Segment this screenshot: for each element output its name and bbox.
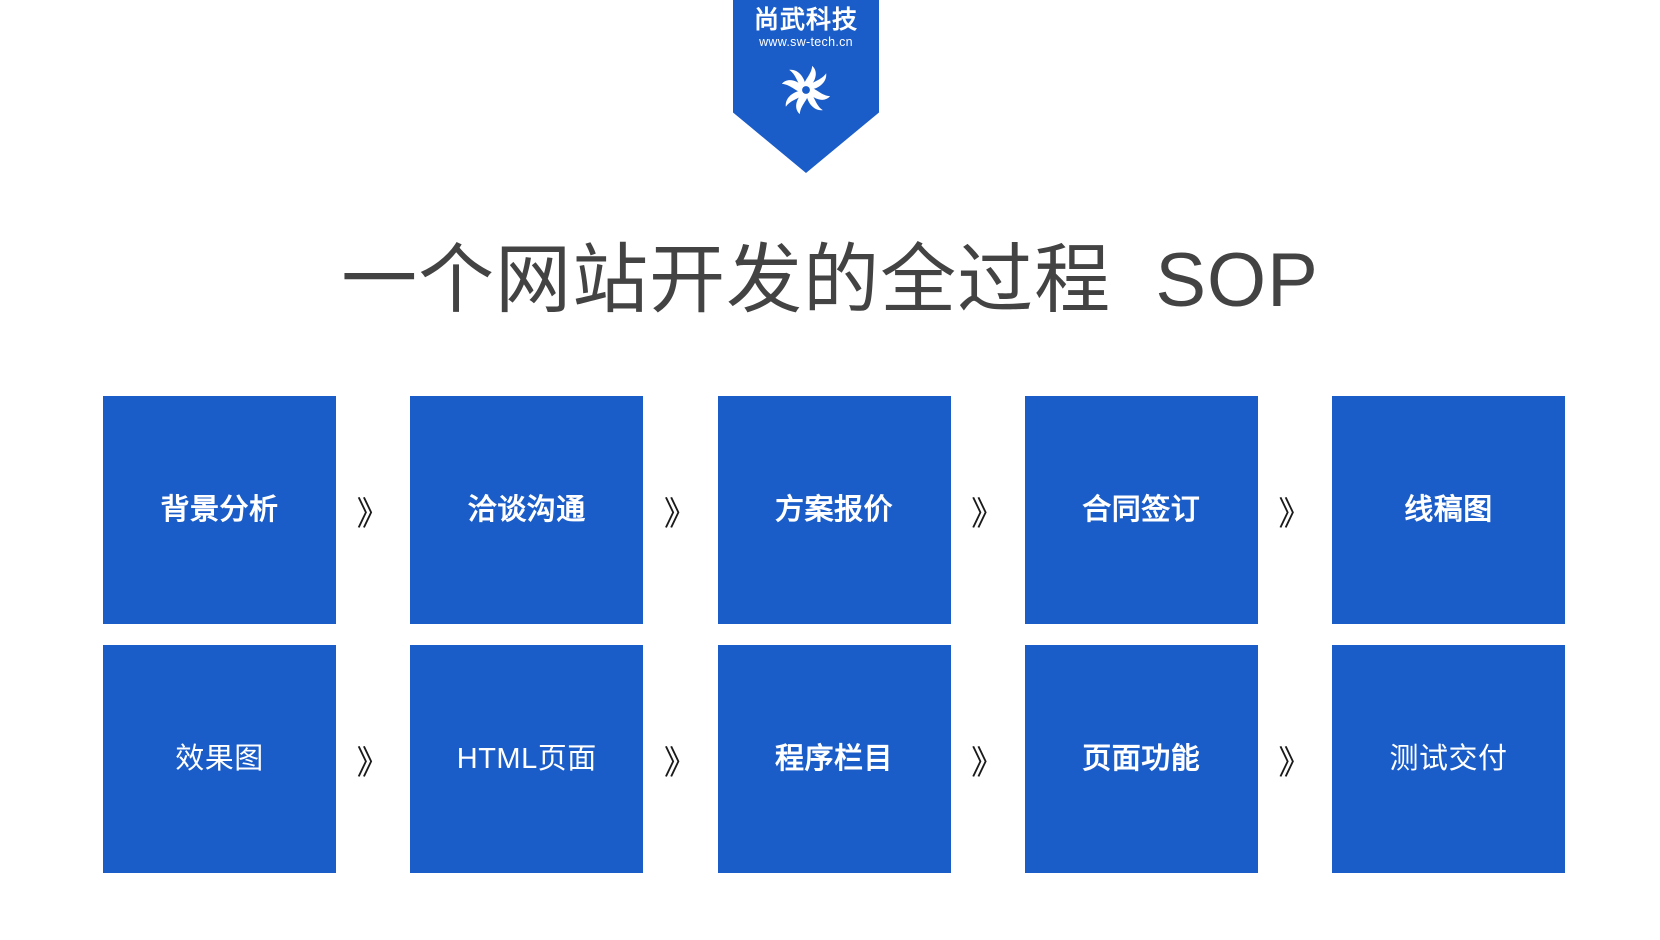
flow-arrow-glyph: 》 — [664, 746, 697, 779]
flow-step-label: 背景分析 — [160, 496, 278, 525]
flow-arrow-glyph: 》 — [971, 497, 1004, 530]
pinwheel-logo-icon — [778, 62, 834, 118]
flow-arrow-glyph: 》 — [1278, 746, 1311, 779]
flow-arrow-icon: 》 — [643, 645, 717, 873]
flow-row: 背景分析 》 洽谈沟通 》 方案报价 》 合同签订 》 线稿图 — [103, 396, 1565, 624]
flow-arrow-icon: 》 — [643, 396, 717, 624]
flow-step-box[interactable]: 洽谈沟通 — [410, 396, 643, 624]
flow-step-label: 测试交付 — [1389, 745, 1507, 774]
flow-step-box[interactable]: 线稿图 — [1332, 396, 1565, 624]
flow-arrow-icon: 》 — [1258, 645, 1332, 873]
flow-step-label: 效果图 — [175, 745, 264, 774]
flow-arrow-icon: 》 — [336, 645, 410, 873]
flow-arrow-glyph: 》 — [1278, 497, 1311, 530]
flow-step-label: 合同签订 — [1082, 496, 1200, 525]
flow-row-2-container: 效果图 》 HTML页面 》 程序栏目 》 页面功能 》 测试交付 — [103, 645, 1565, 873]
flow-step-box[interactable]: 效果图 — [103, 645, 336, 873]
flow-step-label: 洽谈沟通 — [468, 496, 586, 525]
flow-step-box[interactable]: 方案报价 — [718, 396, 951, 624]
flow-step-box[interactable]: 背景分析 — [103, 396, 336, 624]
flow-step-box[interactable]: HTML页面 — [410, 645, 643, 873]
flow-arrow-icon: 》 — [1258, 396, 1332, 624]
flow-arrow-icon: 》 — [951, 645, 1025, 873]
banner-brand-name: 尚武科技 — [733, 8, 879, 33]
flow-step-box[interactable]: 合同签订 — [1025, 396, 1258, 624]
flow-arrow-glyph: 》 — [357, 497, 390, 530]
flow-arrow-icon: 》 — [336, 396, 410, 624]
banner-website-url: www.sw-tech.cn — [733, 36, 879, 49]
flow-row: 效果图 》 HTML页面 》 程序栏目 》 页面功能 》 测试交付 — [103, 645, 1565, 873]
flow-step-label: 程序栏目 — [775, 745, 893, 774]
flow-arrow-glyph: 》 — [971, 746, 1004, 779]
flow-arrow-icon: 》 — [951, 396, 1025, 624]
flow-step-label: 方案报价 — [775, 496, 893, 525]
flow-step-box[interactable]: 测试交付 — [1332, 645, 1565, 873]
page-title: 一个网站开发的全过程 SOP — [0, 243, 1660, 319]
flow-step-label: 页面功能 — [1082, 745, 1200, 774]
flow-row-1-container: 背景分析 》 洽谈沟通 》 方案报价 》 合同签订 》 线稿图 — [103, 396, 1565, 624]
flow-step-label: 线稿图 — [1404, 496, 1493, 525]
flow-step-box[interactable]: 页面功能 — [1025, 645, 1258, 873]
flow-step-box[interactable]: 程序栏目 — [718, 645, 951, 873]
flow-step-label: HTML页面 — [457, 745, 597, 774]
flow-arrow-glyph: 》 — [664, 497, 697, 530]
flow-arrow-glyph: 》 — [357, 746, 390, 779]
brand-banner: 尚武科技 www.sw-tech.cn — [733, 0, 879, 173]
